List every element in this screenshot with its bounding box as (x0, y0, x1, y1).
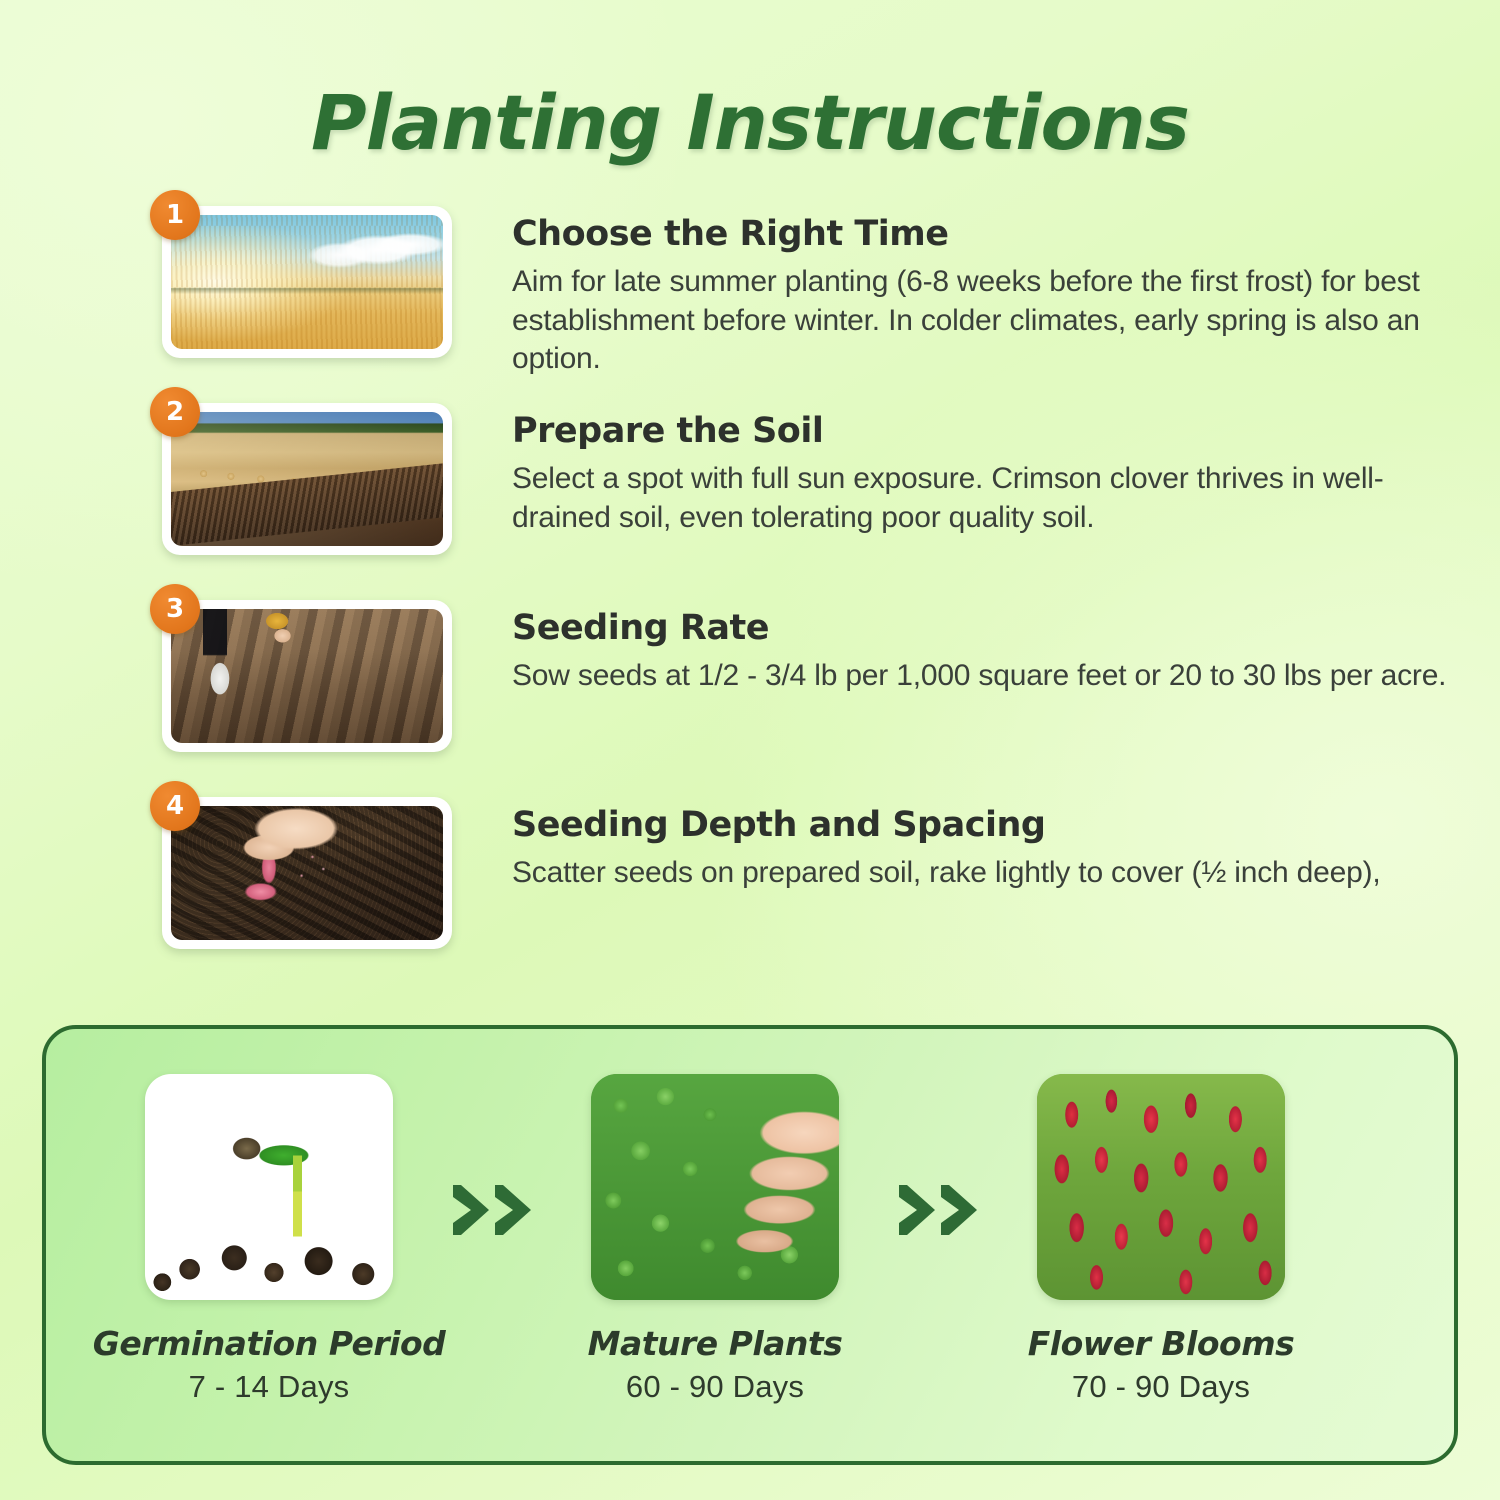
step-item: 4 Seeding Depth and Spacing Scatter seed… (0, 789, 1500, 986)
growth-timeline-panel: Germination Period 7 - 14 Days Mature Pl… (42, 1025, 1458, 1465)
step-body: Seeding Depth and Spacing Scatter seeds … (512, 805, 1450, 893)
infographic-canvas: Planting Instructions 1 Choose the Right… (0, 0, 1500, 1500)
step-description: Scatter seeds on prepared soil, rake lig… (512, 854, 1450, 893)
timeline-stage: Germination Period 7 - 14 Days (106, 1074, 432, 1405)
step-number-badge: 1 (150, 190, 200, 240)
timeline-stage-value: 7 - 14 Days (189, 1369, 350, 1405)
steps-list: 1 Choose the Right Time Aim for late sum… (0, 198, 1500, 986)
sowing-seed-in-furrows-photo (171, 609, 443, 743)
step-item: 3 Seeding Rate Sow seeds at 1/2 - 3/4 lb… (0, 592, 1500, 789)
hand-scattering-seeds-photo (171, 806, 443, 940)
step-media: 4 (162, 797, 452, 949)
step-heading: Seeding Rate (512, 608, 1450, 648)
step-heading: Seeding Depth and Spacing (512, 805, 1450, 845)
timeline-stage-label: Mature Plants (588, 1324, 843, 1363)
timeline-stage-label: Flower Blooms (1028, 1324, 1295, 1363)
double-chevron-right-icon (878, 1179, 998, 1241)
double-chevron-right-icon (432, 1179, 552, 1241)
step-body: Choose the Right Time Aim for late summe… (512, 214, 1450, 379)
step-media: 2 (162, 403, 452, 555)
step-description: Aim for late summer planting (6-8 weeks … (512, 263, 1450, 379)
timeline-stage-value: 70 - 90 Days (1072, 1369, 1250, 1405)
photo-frame (162, 403, 452, 555)
hay-bale-field-photo (171, 412, 443, 546)
timeline-stage-label: Germination Period (93, 1324, 446, 1363)
step-item: 1 Choose the Right Time Aim for late sum… (0, 198, 1500, 395)
seed-sprout-photo (145, 1074, 393, 1300)
crimson-clover-blooms-photo (1037, 1074, 1285, 1300)
timeline-row: Germination Period 7 - 14 Days Mature Pl… (46, 1029, 1454, 1461)
step-description: Select a spot with full sun exposure. Cr… (512, 460, 1450, 537)
page-title: Planting Instructions (0, 78, 1500, 167)
step-heading: Choose the Right Time (512, 214, 1450, 254)
photo-frame (162, 797, 452, 949)
step-body: Seeding Rate Sow seeds at 1/2 - 3/4 lb p… (512, 608, 1450, 696)
photo-frame (162, 206, 452, 358)
step-number-badge: 4 (150, 781, 200, 831)
step-heading: Prepare the Soil (512, 411, 1450, 451)
timeline-stage-value: 60 - 90 Days (626, 1369, 804, 1405)
sunlit-wheat-field-photo (171, 215, 443, 349)
step-description: Sow seeds at 1/2 - 3/4 lb per 1,000 squa… (512, 657, 1450, 696)
step-media: 1 (162, 206, 452, 358)
step-number-badge: 3 (150, 584, 200, 634)
hand-in-clover-foliage-photo (591, 1074, 839, 1300)
timeline-stage: Flower Blooms 70 - 90 Days (998, 1074, 1324, 1405)
photo-frame (162, 600, 452, 752)
timeline-stage: Mature Plants 60 - 90 Days (552, 1074, 878, 1405)
step-body: Prepare the Soil Select a spot with full… (512, 411, 1450, 537)
step-number-badge: 2 (150, 387, 200, 437)
step-item: 2 Prepare the Soil Select a spot with fu… (0, 395, 1500, 592)
step-media: 3 (162, 600, 452, 752)
